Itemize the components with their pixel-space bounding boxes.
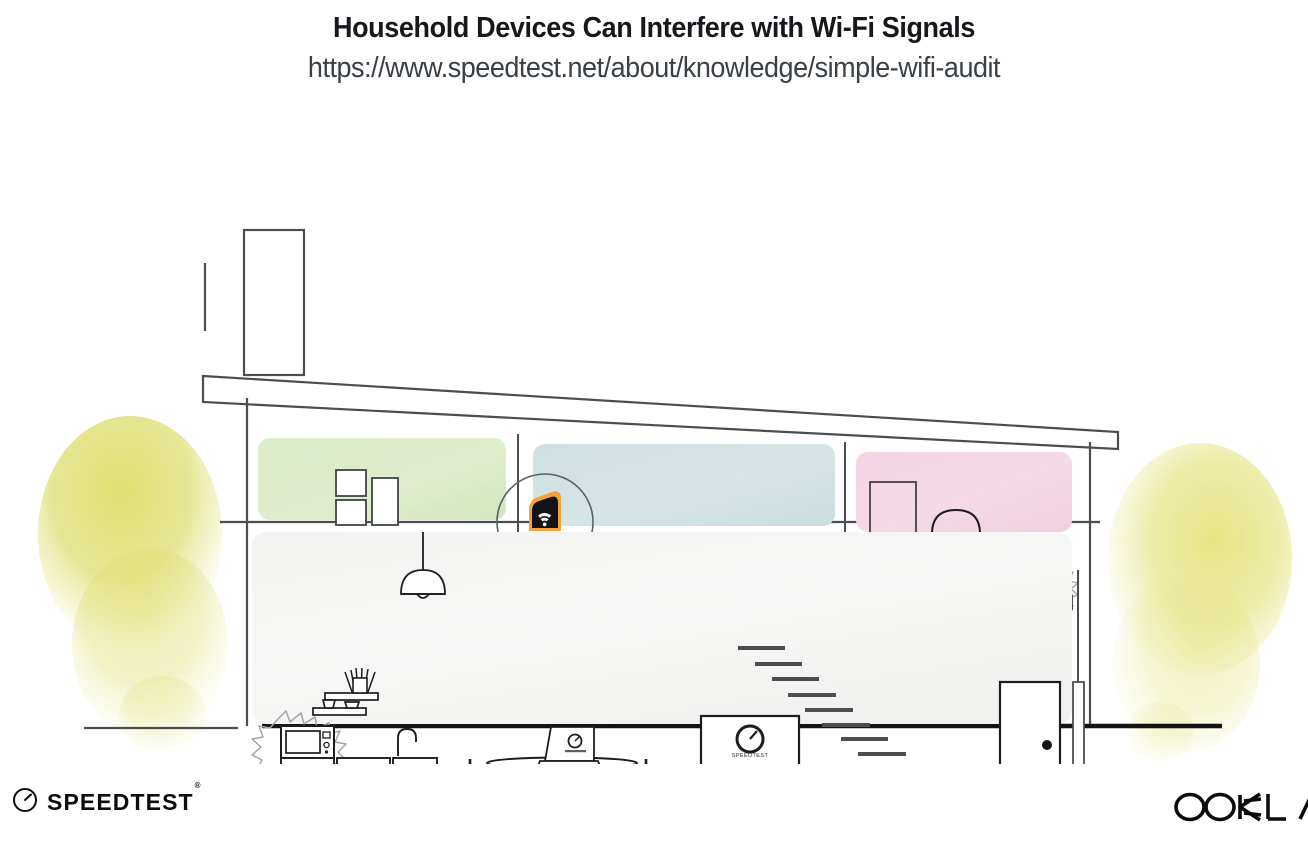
ookla-logo [1168,787,1308,827]
door-knob[interactable] [1042,740,1052,750]
speedtest-logo: SPEEDTEST® [12,787,201,818]
roof [203,263,1118,449]
tv-screen-label: SPEEDTEST [732,753,769,759]
kitchen-counters [281,758,437,764]
foliage-right [1108,443,1292,762]
foliage-left [38,416,228,756]
microwave [281,726,334,758]
kitchen-shelf-upper [325,693,378,700]
speedtest-wordmark: SPEEDTEST® [47,789,201,816]
laptop [538,727,600,764]
page-title: Household Devices Can Interfere with Wi-… [46,8,1262,48]
kitchen-faucet [398,729,416,756]
footer: SPEEDTEST® [0,765,1308,861]
source-url: https://www.speedtest.net/about/knowledg… [46,48,1262,88]
header: Household Devices Can Interfere with Wi-… [0,0,1308,88]
chimney [244,230,304,375]
house-illustration: SPEEDTEST [0,104,1308,764]
dining-area [470,727,646,764]
speedtest-trademark: ® [195,781,202,790]
speedtest-wordmark-text: SPEEDTEST [47,789,194,815]
speedometer-icon [12,787,38,818]
television: SPEEDTEST [701,716,799,764]
sidelight-window [1073,570,1084,764]
